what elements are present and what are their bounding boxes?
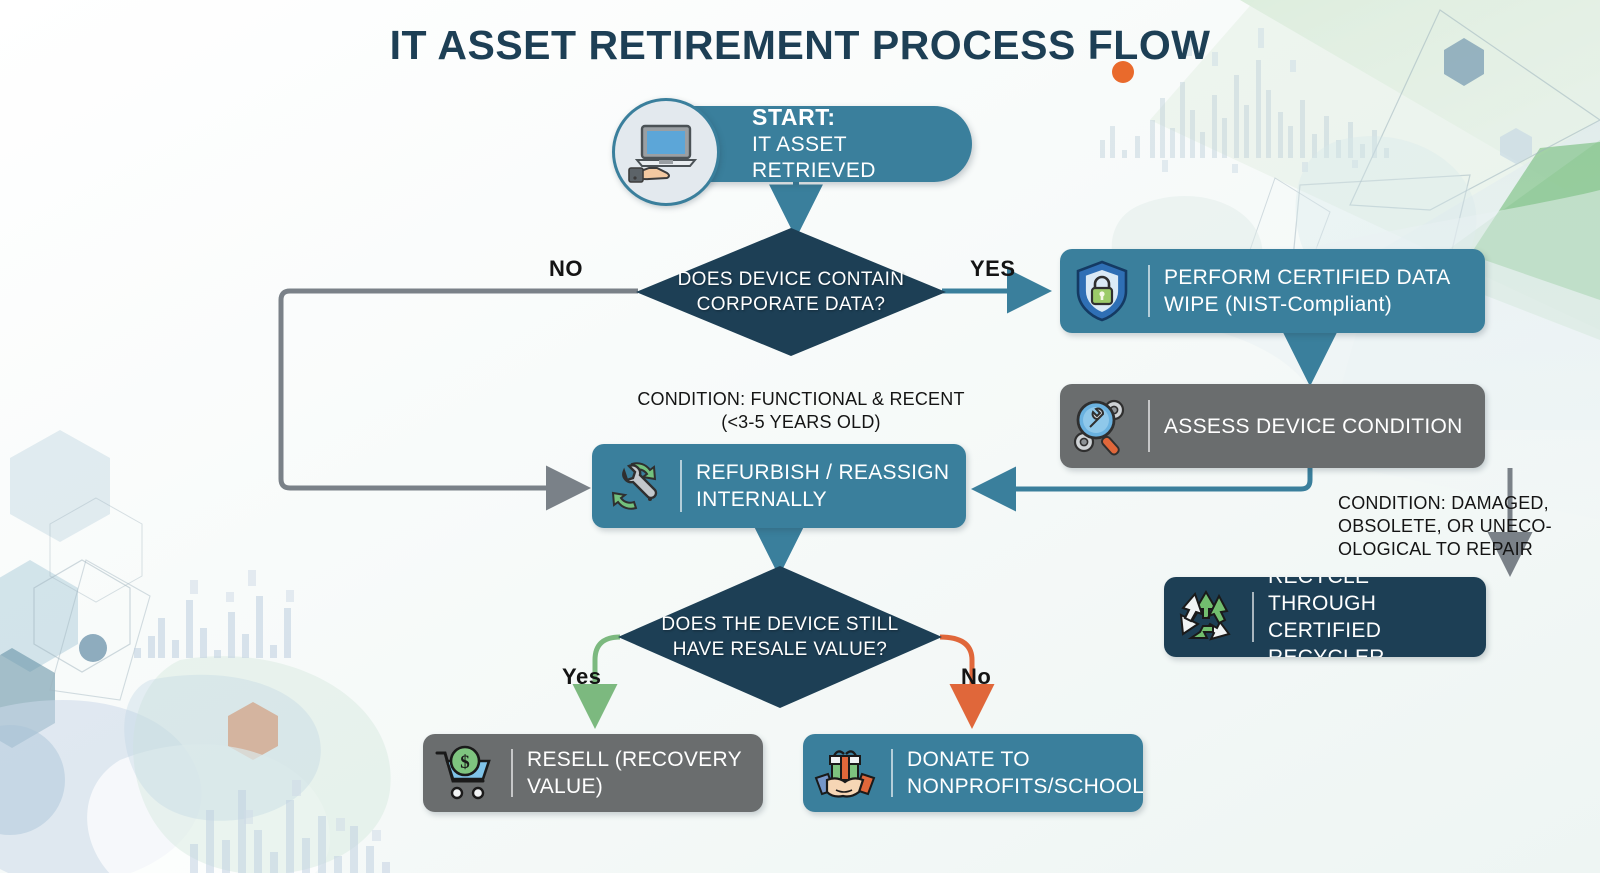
- condition-damaged-line3: OLOGICAL TO REPAIR: [1338, 538, 1598, 561]
- edge-label-no-resale: No: [961, 664, 991, 690]
- shield-lock-icon: [1060, 249, 1144, 333]
- node-data-wipe-label: PERFORM CERTIFIED DATA WIPE (NIST-Compli…: [1164, 264, 1485, 318]
- edge-label-yes-resale: Yes: [562, 664, 601, 690]
- decision-corporate-data-label: DOES DEVICE CONTAIN CORPORATE DATA?: [670, 267, 912, 317]
- condition-damaged-line1: CONDITION: DAMAGED,: [1338, 492, 1598, 515]
- magnifier-gears-icon: [1060, 384, 1144, 468]
- node-divider: [511, 749, 513, 797]
- condition-functional-line2: (<3-5 YEARS OLD): [608, 411, 994, 434]
- node-resell[interactable]: $ RESELL (RECOVERY VALUE): [423, 734, 763, 812]
- node-divider: [680, 460, 682, 512]
- svg-text:$: $: [460, 752, 470, 773]
- gift-handshake-icon: [803, 734, 887, 812]
- infographic-canvas: IT ASSET RETIREMENT PROCESS FLOW: [0, 0, 1600, 873]
- start-node-label-line2: IT ASSET RETRIEVED: [752, 133, 876, 182]
- decision-resale-value[interactable]: DOES THE DEVICE STILL HAVE RESALE VALUE?: [618, 566, 942, 708]
- node-assess-condition[interactable]: ASSESS DEVICE CONDITION: [1060, 384, 1485, 468]
- node-donate-label: DONATE TO NONPROFITS/SCHOOLS: [907, 746, 1143, 800]
- condition-label-damaged: CONDITION: DAMAGED, OBSOLETE, OR UNECO- …: [1338, 492, 1598, 561]
- node-resell-label: RESELL (RECOVERY VALUE): [527, 746, 763, 800]
- node-refurbish-label: REFURBISH / REASSIGN INTERNALLY: [696, 459, 966, 513]
- node-divider: [891, 749, 893, 797]
- condition-functional-line1: CONDITION: FUNCTIONAL & RECENT: [608, 388, 994, 411]
- condition-damaged-line2: OBSOLETE, OR UNECO-: [1338, 515, 1598, 538]
- node-assess-condition-label: ASSESS DEVICE CONDITION: [1164, 413, 1485, 440]
- start-node-label: START: IT ASSET RETRIEVED: [752, 104, 972, 184]
- node-divider: [1148, 265, 1150, 317]
- start-node-label-line1: START:: [752, 104, 836, 130]
- condition-label-functional: CONDITION: FUNCTIONAL & RECENT (<3-5 YEA…: [608, 388, 994, 434]
- shopping-cart-dollar-icon: $: [423, 734, 507, 812]
- node-refurbish[interactable]: REFURBISH / REASSIGN INTERNALLY: [592, 444, 966, 528]
- node-donate[interactable]: DONATE TO NONPROFITS/SCHOOLS: [803, 734, 1143, 812]
- laptop-on-hand-icon: [612, 98, 720, 206]
- recycle-icon: [1164, 577, 1248, 657]
- node-data-wipe[interactable]: PERFORM CERTIFIED DATA WIPE (NIST-Compli…: [1060, 249, 1485, 333]
- decision-corporate-data[interactable]: DOES DEVICE CONTAIN CORPORATE DATA?: [636, 228, 946, 356]
- node-divider: [1148, 400, 1150, 452]
- edge-assess-to-refurbish: [978, 468, 1310, 489]
- edge-label-no-data: NO: [549, 256, 583, 282]
- node-recycle-label: RECYCLE THROUGH CERTIFIED RECYCLER: [1268, 577, 1486, 657]
- decision-resale-value-label: DOES THE DEVICE STILL HAVE RESALE VALUE?: [654, 612, 907, 662]
- node-recycle[interactable]: RECYCLE THROUGH CERTIFIED RECYCLER: [1164, 577, 1486, 657]
- edge-label-yes-data: YES: [970, 256, 1016, 282]
- node-divider: [1252, 592, 1254, 642]
- edge-no-to-refurbish: [281, 291, 638, 488]
- wrench-recycle-icon: [592, 444, 676, 528]
